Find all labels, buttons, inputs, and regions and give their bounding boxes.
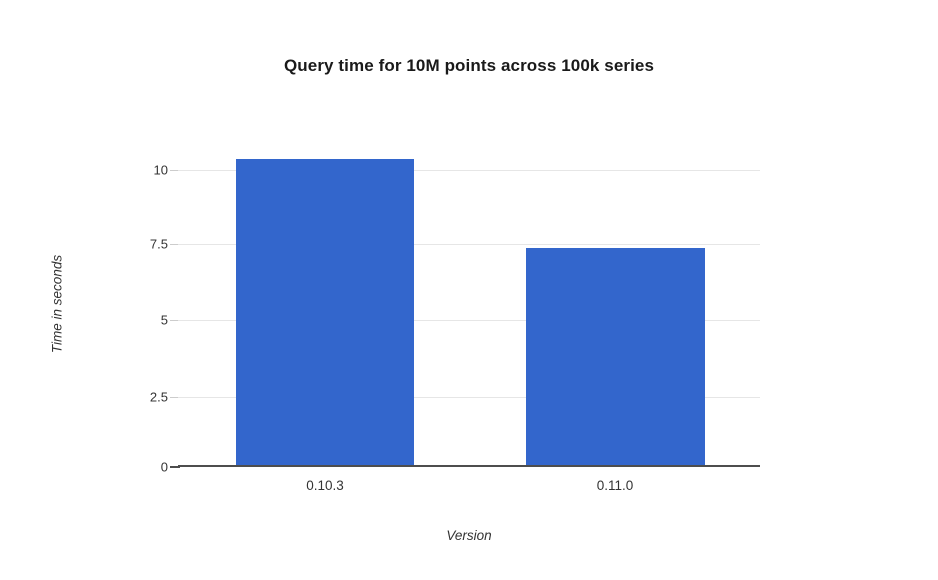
plot-area (178, 140, 760, 467)
y-axis-tick-labels: 10 7.5 5 2.5 0 (90, 140, 168, 467)
y-tick-label-0: 0 (98, 460, 168, 475)
bar-chart: Query time for 10M points across 100k se… (0, 0, 938, 580)
x-tick-label-0-11-0: 0.11.0 (597, 478, 634, 493)
y-axis-title-container: Time in seconds (46, 140, 68, 467)
bar-0-11-0[interactable] (526, 248, 705, 465)
x-tick-label-0-10-3: 0.10.3 (306, 478, 344, 493)
y-tick-label-2-5: 2.5 (98, 390, 168, 405)
x-axis-title: Version (178, 528, 760, 543)
y-tick-label-10: 10 (98, 163, 168, 178)
y-axis-title: Time in seconds (50, 254, 65, 352)
y-tick-label-5: 5 (98, 313, 168, 328)
x-axis-line (178, 465, 760, 467)
y-tick-label-7-5: 7.5 (98, 237, 168, 252)
bar-0-10-3[interactable] (236, 159, 414, 465)
chart-title: Query time for 10M points across 100k se… (0, 56, 938, 76)
x-axis-tick-labels: 0.10.3 0.11.0 (178, 478, 760, 500)
